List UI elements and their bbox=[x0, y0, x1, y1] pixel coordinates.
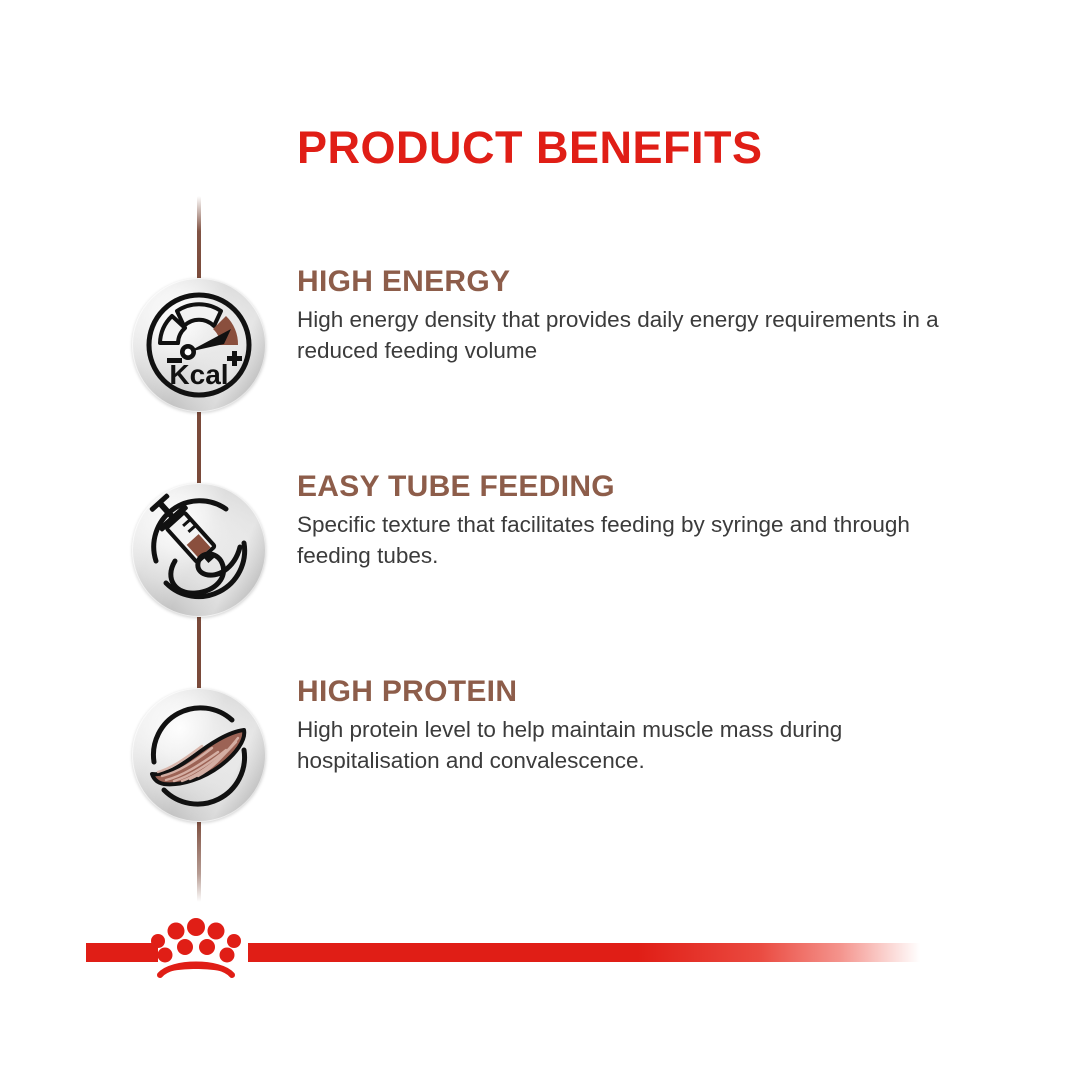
benefit-item-easy-tube-feeding: EASY TUBE FEEDING Specific texture that … bbox=[0, 470, 1080, 630]
benefit-item-high-protein: HIGH PROTEIN High protein level to help … bbox=[0, 675, 1080, 835]
benefit-body: High energy density that provides daily … bbox=[297, 305, 957, 366]
benefit-body: Specific texture that facilitates feedin… bbox=[297, 510, 957, 571]
benefit-item-high-energy: Kcal HIGH ENERGY High energy density tha… bbox=[0, 265, 1080, 425]
benefit-body: High protein level to help maintain musc… bbox=[297, 715, 957, 776]
footer-brand-bar bbox=[0, 925, 1080, 985]
benefit-heading: HIGH ENERGY bbox=[297, 265, 957, 298]
syringe-tube-icon bbox=[132, 483, 266, 617]
kcal-label: Kcal bbox=[169, 359, 228, 390]
benefit-text-block: HIGH PROTEIN High protein level to help … bbox=[297, 675, 957, 776]
benefit-text-block: HIGH ENERGY High energy density that pro… bbox=[297, 265, 957, 366]
benefit-heading: EASY TUBE FEEDING bbox=[297, 470, 957, 503]
product-benefits-page: PRODUCT BENEFITS bbox=[0, 0, 1080, 1080]
royal-canin-crown-logo bbox=[146, 917, 246, 979]
benefit-text-block: EASY TUBE FEEDING Specific texture that … bbox=[297, 470, 957, 571]
brand-bar-right-segment bbox=[248, 943, 920, 962]
muscle-fiber-icon bbox=[132, 688, 266, 822]
kcal-gauge-icon: Kcal bbox=[132, 278, 266, 412]
page-title: PRODUCT BENEFITS bbox=[297, 124, 763, 171]
benefit-heading: HIGH PROTEIN bbox=[297, 675, 957, 708]
